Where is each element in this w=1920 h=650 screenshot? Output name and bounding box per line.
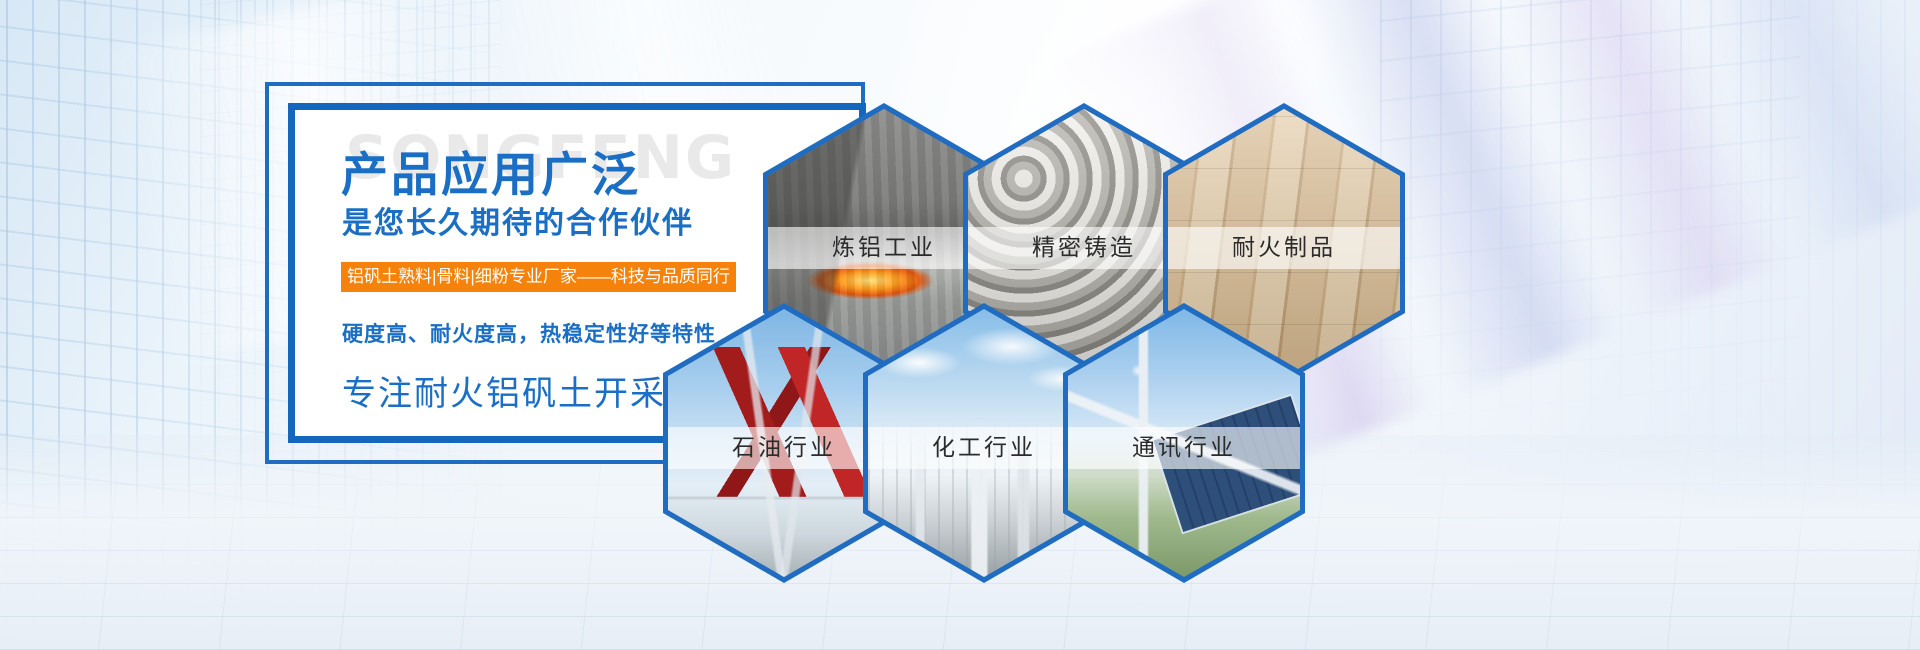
product-application-banner: SONGFENG 产品应用广泛 是您长久期待的合作伙伴 铝矾土熟料|骨料|细粉专… xyxy=(0,0,1920,650)
industry-hexagon-cluster: 炼铝工业 精密铸造 耐火制品 石油行业 化工行业 通讯行业 xyxy=(0,0,1920,650)
hex-label-refractory: 耐火制品 xyxy=(1168,227,1400,269)
hex-label-telecom: 通讯行业 xyxy=(1068,427,1300,469)
